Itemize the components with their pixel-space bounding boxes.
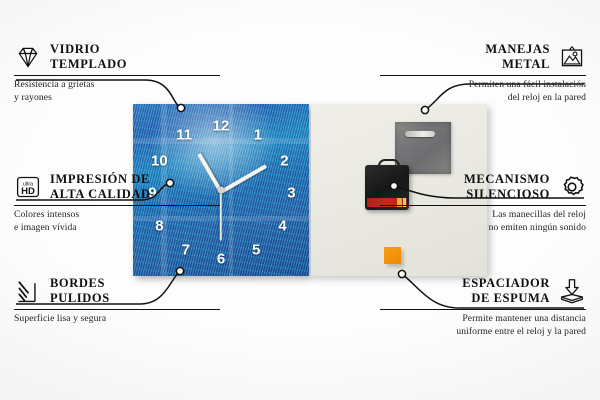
feature-title: VIDRIO TEMPLADO <box>50 42 127 72</box>
polished-edges-icon <box>14 278 42 304</box>
feature-head: MECANISMO SILENCIOSO <box>380 172 586 202</box>
gear-icon <box>558 174 586 200</box>
infographic-canvas: 12 1 2 3 4 5 6 7 8 9 10 11 <box>0 0 600 400</box>
feature-description: Las manecillas del reloj no emiten ningú… <box>380 209 586 235</box>
feature-title: MANEJAS METAL <box>485 42 550 72</box>
ultra-hd-icon: ultra HD <box>14 174 42 200</box>
mechanism-hanger-loop <box>378 159 400 170</box>
feature-rule <box>14 75 220 77</box>
clock-numeral-6: 6 <box>217 251 225 266</box>
foam-spacer-icon <box>558 278 586 304</box>
feature-callout-bordes-pulidos: BORDES PULIDOS Superficie lisa y segura <box>14 276 220 326</box>
picture-hanger-icon <box>558 44 586 70</box>
feature-description: Permiten una fácil instalación del reloj… <box>380 79 586 105</box>
feature-head: VIDRIO TEMPLADO <box>14 42 220 72</box>
feature-rule <box>14 205 220 207</box>
feature-rule <box>380 205 586 207</box>
clock-numeral-11: 11 <box>176 127 192 142</box>
feature-callout-impresion-alta-calidad: ultra HD IMPRESIÓN DE ALTA CALIDAD Color… <box>14 172 220 235</box>
feature-title: IMPRESIÓN DE ALTA CALIDAD <box>50 172 151 202</box>
clock-second-hand <box>220 191 222 241</box>
feature-head: ultra HD IMPRESIÓN DE ALTA CALIDAD <box>14 172 220 202</box>
feature-callout-espaciador-de-espuma: ESPACIADOR DE ESPUMA Permite mantener un… <box>380 276 586 339</box>
feature-head: BORDES PULIDOS <box>14 276 220 306</box>
feature-callout-manejas-metal: MANEJAS METAL Permiten una fácil instala… <box>380 42 586 105</box>
feature-title: ESPACIADOR DE ESPUMA <box>462 276 550 306</box>
foam-spacer-piece <box>384 247 401 264</box>
clock-numeral-1: 1 <box>254 127 262 142</box>
feature-callout-mecanismo-silencioso: MECANISMO SILENCIOSO Las manecillas del … <box>380 172 586 235</box>
ultra-hd-icon-main-text: HD <box>21 186 35 197</box>
clock-numeral-2: 2 <box>280 153 288 168</box>
feature-head: MANEJAS METAL <box>380 42 586 72</box>
feature-head: ESPACIADOR DE ESPUMA <box>380 276 586 306</box>
clock-numeral-5: 5 <box>252 243 260 258</box>
clock-numeral-10: 10 <box>151 153 168 168</box>
feature-description: Colores intensos e imagen vívida <box>14 209 220 235</box>
clock-numeral-3: 3 <box>287 186 295 201</box>
feature-description: Permite mantener una distancia uniforme … <box>380 313 586 339</box>
feature-title: MECANISMO SILENCIOSO <box>464 172 550 202</box>
diamond-icon <box>14 44 42 70</box>
feature-callout-vidrio-templado: VIDRIO TEMPLADO Resistencia a grietas y … <box>14 42 220 105</box>
feature-rule <box>380 75 586 77</box>
clock-minute-hand <box>220 164 267 193</box>
feature-rule <box>380 309 586 311</box>
clock-numeral-7: 7 <box>182 243 190 258</box>
feature-description: Superficie lisa y segura <box>14 313 220 326</box>
hanger-slot <box>405 131 435 137</box>
feature-rule <box>14 309 220 311</box>
clock-numeral-12: 12 <box>213 119 230 134</box>
feature-description: Resistencia a grietas y rayones <box>14 79 220 105</box>
feature-title: BORDES PULIDOS <box>50 276 110 306</box>
clock-numeral-4: 4 <box>278 219 286 234</box>
